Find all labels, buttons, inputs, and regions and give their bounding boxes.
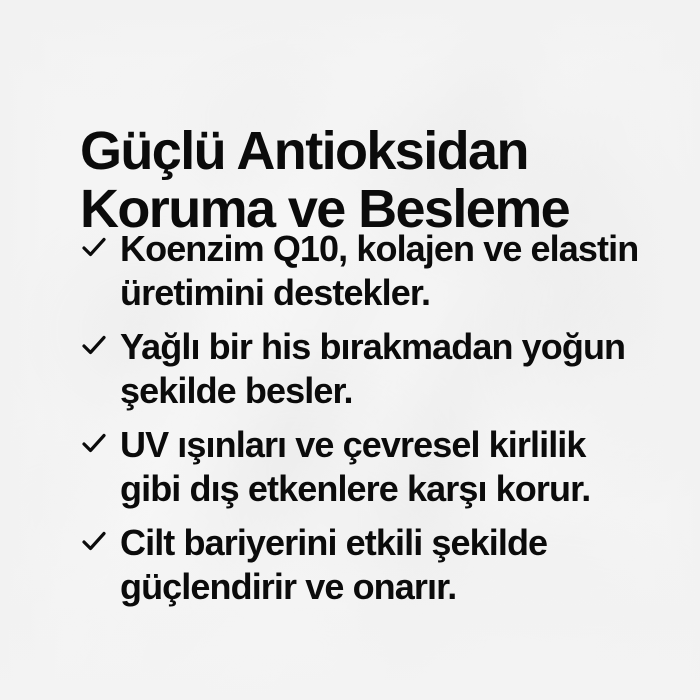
check-icon <box>82 521 120 561</box>
check-icon <box>82 227 120 267</box>
card-content: Güçlü Antioksidan Koruma ve Besleme Koen… <box>0 0 700 700</box>
list-item: UV ışınları ve çevresel kirlilik gibi dı… <box>82 423 642 511</box>
check-icon <box>82 325 120 365</box>
benefit-text: Yağlı bir his bırakmadan yoğun şekilde b… <box>120 325 642 413</box>
benefit-text: Cilt bariyerini etkili şekilde güçlendir… <box>120 521 642 609</box>
benefit-text: UV ışınları ve çevresel kirlilik gibi dı… <box>120 423 642 511</box>
product-benefits-card: Güçlü Antioksidan Koruma ve Besleme Koen… <box>0 0 700 700</box>
list-item: Yağlı bir his bırakmadan yoğun şekilde b… <box>82 325 642 413</box>
benefit-list: Koenzim Q10, kolajen ve elastin üretimin… <box>82 227 642 619</box>
page-title: Güçlü Antioksidan Koruma ve Besleme <box>80 122 640 238</box>
benefit-text: Koenzim Q10, kolajen ve elastin üretimin… <box>120 227 642 315</box>
check-icon <box>82 423 120 463</box>
list-item: Cilt bariyerini etkili şekilde güçlendir… <box>82 521 642 609</box>
list-item: Koenzim Q10, kolajen ve elastin üretimin… <box>82 227 642 315</box>
